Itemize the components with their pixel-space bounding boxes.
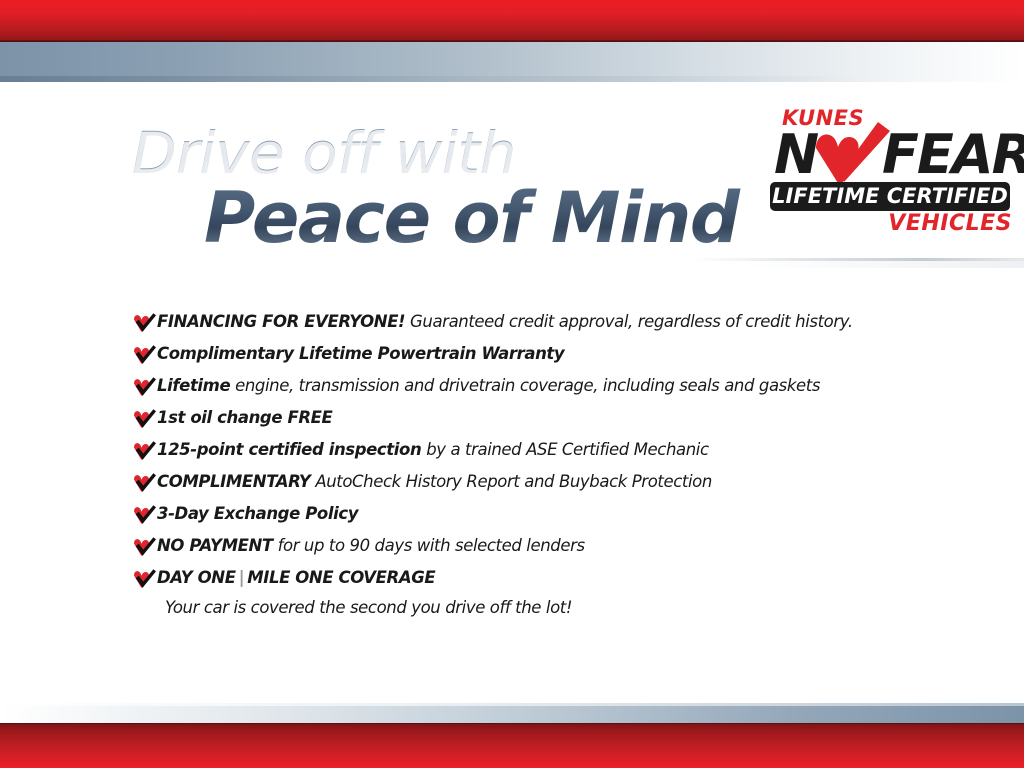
- benefit-item: FINANCING FOR EVERYONE! Guaranteed credi…: [131, 311, 931, 343]
- benefit-text: 125-point certified inspection by a trai…: [157, 439, 709, 461]
- promotional-flyer: Drive off with Peace of Mind KUNES N FEA…: [0, 0, 1024, 768]
- benefit-headline: 1st oil change FREE: [157, 408, 332, 427]
- benefit-detail: Guaranteed credit approval, regardless o…: [405, 312, 853, 331]
- benefit-text: NO PAYMENT for up to 90 days with select…: [157, 535, 585, 557]
- benefit-item: COMPLIMENTARY AutoCheck History Report a…: [131, 471, 931, 503]
- benefit-headline: COMPLIMENTARY: [157, 472, 310, 491]
- headline-line-2: Peace of Mind: [204, 180, 772, 256]
- benefit-text: DAY ONE|MILE ONE COVERAGE: [157, 567, 435, 589]
- check-heart-icon: [131, 440, 157, 462]
- benefit-item: NO PAYMENT for up to 90 days with select…: [131, 535, 931, 567]
- check-heart-icon: [131, 536, 157, 558]
- benefit-headline: 3-Day Exchange Policy: [157, 504, 358, 523]
- logo-word-vehicles: VEHICLES: [888, 212, 1012, 236]
- check-heart-icon: [131, 312, 157, 334]
- logo-no-fear-wordmark: N FEAR: [774, 128, 1014, 184]
- check-heart-icon: [131, 504, 157, 526]
- check-heart-icon: [131, 568, 157, 590]
- benefit-text: FINANCING FOR EVERYONE! Guaranteed credi…: [157, 311, 853, 333]
- bottom-red-band: [0, 724, 1024, 768]
- benefit-item: 3-Day Exchange Policy: [131, 503, 931, 535]
- benefit-text: Lifetime engine, transmission and drivet…: [157, 375, 820, 397]
- benefit-separator: |: [236, 568, 248, 587]
- check-heart-icon: [131, 344, 157, 366]
- benefit-item: Lifetime engine, transmission and drivet…: [131, 375, 931, 407]
- benefit-headline: Lifetime: [157, 376, 230, 395]
- hero-divider-highlight: [740, 261, 1024, 268]
- kunes-no-fear-logo: KUNES N FEAR LIFETIME CERTIFIED VEHICLES: [770, 108, 1014, 240]
- logo-word-fear: FEAR: [882, 128, 1024, 182]
- benefit-headline: NO PAYMENT: [157, 536, 273, 555]
- headline-line-1: Drive off with: [132, 122, 772, 184]
- top-gray-band-shadow: [0, 76, 1024, 82]
- benefit-text: Complimentary Lifetime Powertrain Warran…: [157, 343, 564, 365]
- check-heart-icon: [131, 472, 157, 494]
- check-heart-icon: [131, 376, 157, 398]
- top-red-band: [0, 0, 1024, 42]
- benefit-detail: for up to 90 days with selected lenders: [273, 536, 585, 555]
- benefit-text: 3-Day Exchange Policy: [157, 503, 358, 525]
- benefit-detail: by a trained ASE Certified Mechanic: [421, 440, 708, 459]
- logo-lifetime-certified-bar: LIFETIME CERTIFIED: [770, 182, 1010, 211]
- check-heart-icon: [131, 408, 157, 430]
- benefit-headline: FINANCING FOR EVERYONE!: [157, 312, 405, 331]
- benefits-list: FINANCING FOR EVERYONE! Guaranteed credi…: [131, 311, 931, 619]
- benefit-item: DAY ONE|MILE ONE COVERAGE: [131, 567, 931, 599]
- logo-lifetime-certified-text: LIFETIME CERTIFIED: [770, 182, 1010, 211]
- headline: Drive off with Peace of Mind: [132, 122, 772, 256]
- benefit-text: COMPLIMENTARY AutoCheck History Report a…: [157, 471, 712, 493]
- benefit-item: 1st oil change FREE: [131, 407, 931, 439]
- benefit-headline: DAY ONE: [157, 568, 236, 587]
- benefit-item: 125-point certified inspection by a trai…: [131, 439, 931, 471]
- benefit-subtext: Your car is covered the second you drive…: [165, 597, 931, 619]
- benefit-item: Complimentary Lifetime Powertrain Warran…: [131, 343, 931, 375]
- benefit-headline: Complimentary Lifetime Powertrain Warran…: [157, 344, 564, 363]
- benefit-text: 1st oil change FREE: [157, 407, 332, 429]
- benefit-headline-secondary: MILE ONE COVERAGE: [247, 568, 435, 587]
- benefit-headline: 125-point certified inspection: [157, 440, 421, 459]
- benefit-detail: AutoCheck History Report and Buyback Pro…: [310, 472, 711, 491]
- benefit-detail: engine, transmission and drivetrain cove…: [230, 376, 820, 395]
- bottom-gray-band: [0, 706, 1024, 724]
